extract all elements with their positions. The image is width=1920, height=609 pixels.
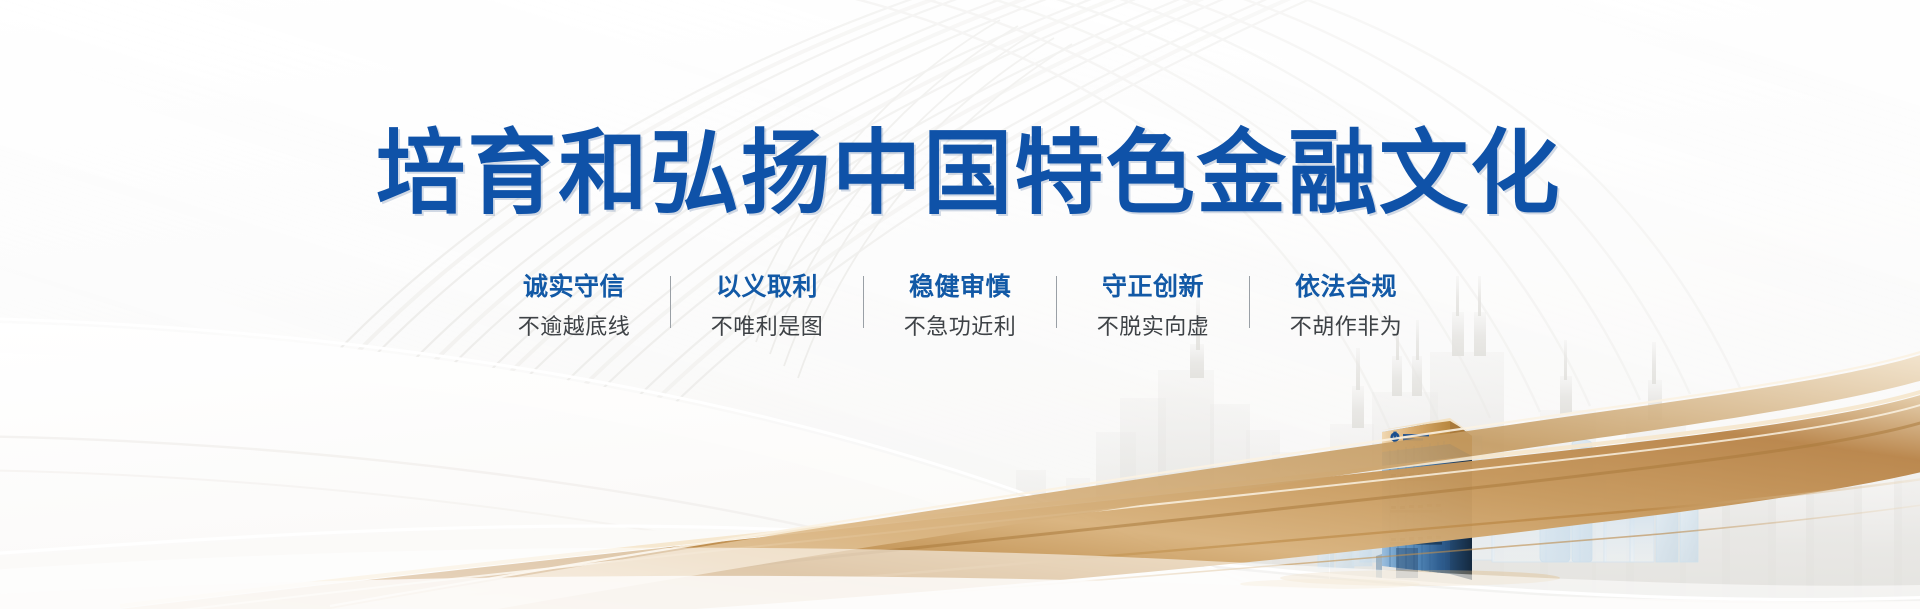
pillar-divider bbox=[1056, 276, 1057, 328]
pillar-item-4: 依法合规 不胡作非为 bbox=[1266, 272, 1426, 341]
pillar-title: 依法合规 bbox=[1295, 272, 1397, 303]
pillar-item-3: 守正创新 不脱实向虚 bbox=[1073, 272, 1233, 341]
finance-culture-banner: 培育和弘扬中国特色金融文化 诚实守信 不逾越底线 以义取利 不唯利是图 稳健审慎… bbox=[0, 0, 1920, 609]
pillar-divider bbox=[863, 276, 864, 328]
pillar-item-2: 稳健审慎 不急功近利 bbox=[880, 272, 1040, 341]
pillar-subtitle: 不急功近利 bbox=[904, 313, 1017, 341]
pillar-divider bbox=[670, 276, 671, 328]
page-title: 培育和弘扬中国特色金融文化 bbox=[29, 128, 1891, 220]
pillar-title: 守正创新 bbox=[1102, 272, 1204, 303]
pillar-title: 诚实守信 bbox=[523, 272, 625, 303]
pillar-subtitle: 不脱实向虚 bbox=[1097, 313, 1210, 341]
pillar-title: 稳健审慎 bbox=[909, 272, 1011, 303]
banner-content: 培育和弘扬中国特色金融文化 诚实守信 不逾越底线 以义取利 不唯利是图 稳健审慎… bbox=[0, 0, 1920, 609]
pillar-subtitle: 不逾越底线 bbox=[518, 313, 631, 341]
pillar-subtitle: 不唯利是图 bbox=[711, 313, 824, 341]
pillar-title: 以义取利 bbox=[716, 272, 818, 303]
pillar-list: 诚实守信 不逾越底线 以义取利 不唯利是图 稳健审慎 不急功近利 守正创新 不脱… bbox=[0, 272, 1920, 341]
pillar-divider bbox=[1249, 276, 1250, 328]
pillar-item-0: 诚实守信 不逾越底线 bbox=[494, 272, 654, 341]
pillar-subtitle: 不胡作非为 bbox=[1290, 313, 1403, 341]
pillar-item-1: 以义取利 不唯利是图 bbox=[687, 272, 847, 341]
